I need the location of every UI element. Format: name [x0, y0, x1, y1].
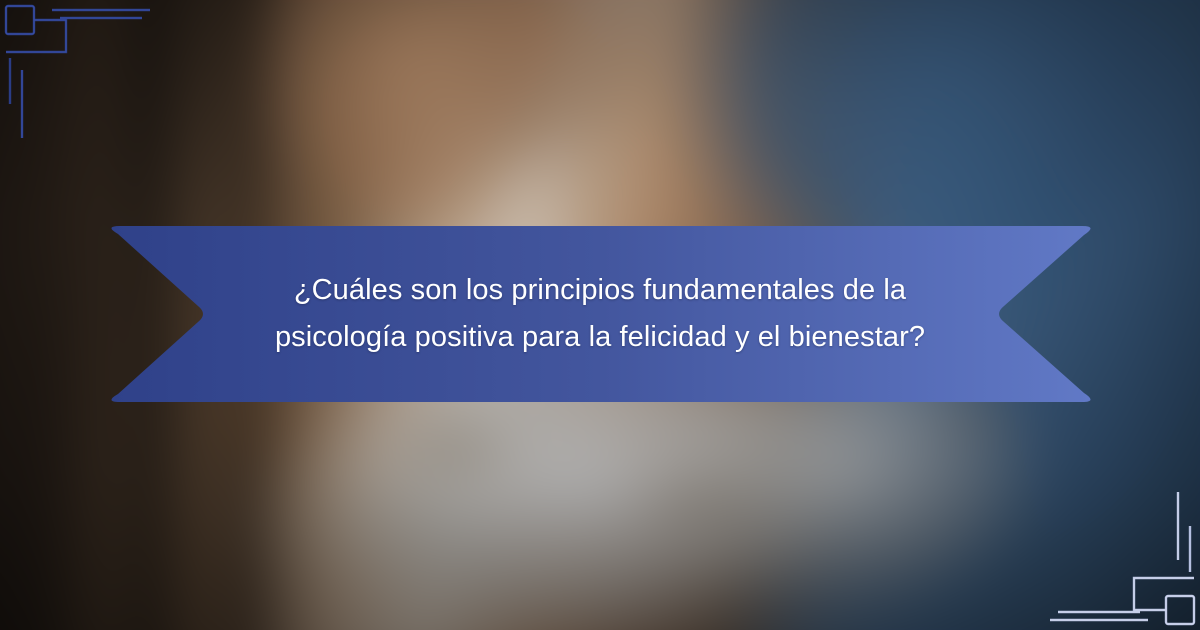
ribbon-title-line-2: psicología positiva para la felicidad y … [275, 314, 925, 361]
ribbon-title-line-1: ¿Cuáles son los principios fundamentales… [294, 267, 906, 314]
share-card-canvas: ¿Cuáles son los principios fundamentales… [0, 0, 1200, 630]
question-ribbon: ¿Cuáles son los principios fundamentales… [104, 224, 1096, 404]
ribbon-title: ¿Cuáles son los principios fundamentales… [254, 224, 946, 404]
